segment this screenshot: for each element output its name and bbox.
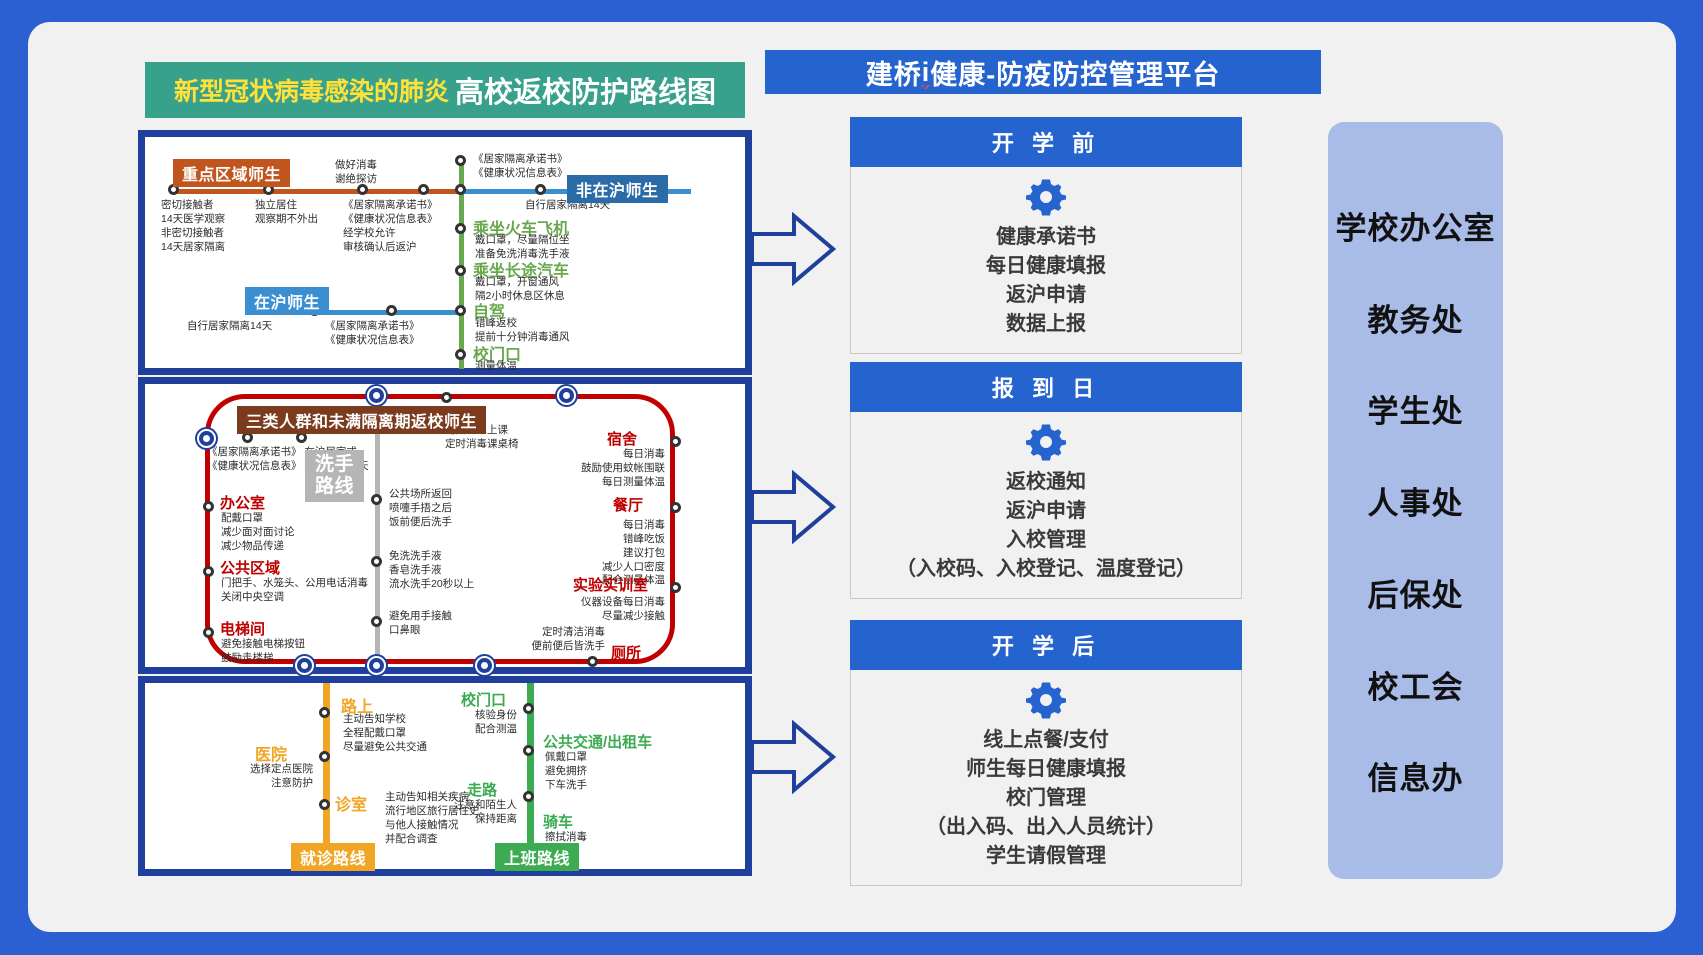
stop-marker	[386, 305, 397, 316]
dept-item-school-office[interactable]: 学校办公室	[1336, 203, 1496, 248]
heading-elevator: 电梯间	[220, 618, 265, 639]
department-sidebar: 学校办公室 教务处 学生处 人事处 后保处 校工会 信息办	[1328, 122, 1503, 879]
heading-toilet: 厕所	[611, 642, 641, 663]
stop-marker	[357, 184, 368, 195]
platform-title-bar: 建桥i健康-防疫防控管理平台	[765, 50, 1321, 94]
poster-banner-highlight: 新型冠状病毒感染的肺炎	[174, 72, 449, 108]
stop-marker	[203, 627, 214, 638]
slide-canvas: 新型冠状病毒感染的肺炎 高校返校防护路线图 重点区域师生 在沪师生 非在沪师生	[28, 22, 1676, 932]
note-public-area: 门把手、水笼头、公用电话消毒 关闭中央空调	[221, 577, 368, 605]
stop-marker	[523, 703, 534, 714]
stop-marker	[670, 502, 681, 513]
workflow-card-before-term[interactable]: 开 学 前 健康承诺书 每日健康填报 返沪申请 数据上报	[850, 117, 1242, 354]
poster-panel-pre-return: 重点区域师生 在沪师生 非在沪师生 密切接触者 14天医学观察 非密切接触者 1…	[138, 130, 752, 375]
heading-clinic: 诊室	[335, 791, 367, 815]
interchange-marker	[197, 429, 216, 448]
heading-hospital: 医院	[255, 741, 287, 765]
note-wash-products: 免洗洗手液 香皂洗手液 流水洗手20秒以上	[389, 550, 474, 592]
card-body-after-term: 线上点餐/支付 师生每日健康填报 校门管理 （出入码、出入人员统计） 学生请假管…	[850, 670, 1242, 886]
stop-marker	[523, 745, 534, 756]
stop-marker	[455, 349, 466, 360]
tag-work-route: 上班路线	[495, 843, 579, 871]
note-wash-after-public: 公共场所返回 喷嚏手捂之后 饭前便后洗手	[389, 488, 452, 530]
interchange-marker	[475, 656, 494, 675]
heading-walk: 走路	[467, 779, 497, 800]
dept-item-student-affairs[interactable]: 学生处	[1368, 386, 1464, 431]
heading-transit: 公共交通/出租车	[543, 731, 652, 752]
note-home-14-blue: 自行居家隔离14天	[187, 320, 272, 334]
note-disinfect-visits: 做好消毒 谢绝探访	[335, 159, 377, 187]
stop-marker	[319, 751, 330, 762]
note-gate: 核验身份 配合测温	[411, 709, 517, 737]
dept-item-info-office[interactable]: 信息办	[1368, 753, 1464, 798]
note-independent-living: 独立居住 观察期不外出	[255, 199, 318, 227]
card-line: 入校管理	[851, 526, 1241, 555]
card-body-report-day: 返校通知 返沪申请 入校管理 （入校码、入校登记、温度登记）	[850, 412, 1242, 599]
note-dorm: 每日消毒 鼓励使用蚊帐围联 每日测量体温	[545, 448, 665, 490]
stop-marker	[418, 184, 429, 195]
interchange-marker	[557, 386, 576, 405]
note-docs-top: 《居家隔离承诺书》 《健康状况信息表》	[473, 153, 568, 181]
dept-item-hr[interactable]: 人事处	[1368, 478, 1464, 523]
stop-marker	[455, 223, 466, 234]
card-line: 返沪申请	[851, 497, 1241, 526]
dept-item-union[interactable]: 校工会	[1368, 662, 1464, 707]
interchange-marker	[367, 386, 386, 405]
heading-canteen: 餐厅	[613, 494, 643, 515]
route-map-poster: 新型冠状病毒感染的肺炎 高校返校防护路线图 重点区域师生 在沪师生 非在沪师生	[138, 62, 758, 877]
stop-marker	[455, 155, 466, 166]
stop-marker	[670, 436, 681, 447]
tag-not-in-shanghai-staff: 非在沪师生	[567, 175, 668, 203]
poster-banner-title: 高校返校防护路线图	[455, 69, 716, 111]
stop-marker	[455, 184, 466, 195]
platform-title-prefix: 建桥	[866, 53, 922, 92]
card-body-before-term: 健康承诺书 每日健康填报 返沪申请 数据上报	[850, 167, 1242, 354]
tag-clinic-route: 就诊路线	[291, 843, 375, 871]
interchange-marker	[367, 656, 386, 675]
card-line: （出入码、出入人员统计）	[851, 813, 1241, 842]
note-avoid-face-touch: 避免用手接触 口鼻眼	[389, 610, 452, 638]
card-line: 校门管理	[851, 784, 1241, 813]
stop-marker	[535, 184, 546, 195]
stop-marker	[371, 556, 382, 567]
note-docs-approval: 《居家隔离承诺书》 《健康状况信息表》 经学校允许 审核确认后返沪	[343, 199, 438, 254]
note-walk: 注意和陌生人 保持距离	[401, 799, 517, 827]
dept-item-logistics[interactable]: 后保处	[1368, 570, 1464, 615]
note-docs-blue: 《居家隔离承诺书》 《健康状况信息表》	[325, 320, 420, 348]
stop-marker	[587, 656, 598, 667]
tag-handwash-route: 洗手 路线	[305, 450, 364, 502]
orange-route-line	[170, 189, 460, 194]
stop-marker	[455, 305, 466, 316]
poster-panel-on-campus: 三类人群和未满隔离期返校师生 《居家隔离承诺书》 在沪居家或 《健康状况信息表》…	[138, 377, 752, 674]
heading-gate: 校门口	[461, 689, 506, 710]
stop-marker	[203, 566, 214, 577]
dept-item-academic-affairs[interactable]: 教务处	[1368, 295, 1464, 340]
tag-key-area-staff: 重点区域师生	[173, 159, 290, 187]
platform-title-i: i	[922, 57, 931, 88]
card-line: 线上点餐/支付	[851, 726, 1241, 755]
note-elevator: 避免接触电梯按钮 鼓励走楼梯	[221, 638, 305, 666]
poster-panel-commute: 路上 主动告知学校 全程配戴口罩 尽量避免公共交通 医院 选择定点医院 注意防护…	[138, 676, 752, 876]
card-header-after-term: 开 学 后	[850, 620, 1242, 670]
card-line: 每日健康填报	[851, 252, 1241, 281]
arrow-to-card-3	[750, 720, 836, 794]
gear-icon	[1026, 177, 1066, 217]
note-close-contacts: 密切接触者 14天医学观察 非密切接触者 14天居家隔离	[161, 199, 225, 254]
workflow-card-report-day[interactable]: 报 到 日 返校通知 返沪申请 入校管理 （入校码、入校登记、温度登记）	[850, 362, 1242, 599]
platform-title-suffix: 健康-防疫防控管理平台	[930, 53, 1220, 92]
note-school-gate-temp: 测量体温	[475, 360, 517, 374]
heading-lab: 实验实训室	[573, 574, 648, 595]
card-line: 学生请假管理	[851, 842, 1241, 871]
note-toilet: 定时清洁消毒 便前便后皆洗手	[475, 626, 605, 654]
interchange-marker	[295, 656, 314, 675]
heading-bike: 骑车	[543, 811, 573, 832]
stop-marker	[441, 392, 452, 403]
stop-marker	[319, 707, 330, 718]
stop-marker	[371, 616, 382, 627]
stop-marker	[371, 494, 382, 505]
stop-marker	[203, 501, 214, 512]
arrow-to-card-2	[750, 470, 836, 544]
card-line: 健康承诺书	[851, 223, 1241, 252]
arrow-to-card-1	[750, 212, 836, 286]
poster-banner: 新型冠状病毒感染的肺炎 高校返校防护路线图	[145, 62, 745, 118]
tag-in-shanghai-staff: 在沪师生	[245, 287, 329, 315]
card-line: 返沪申请	[851, 281, 1241, 310]
stop-marker	[670, 582, 681, 593]
note-office: 配戴口罩 减少面对面讨论 减少物品传递	[221, 512, 295, 554]
heading-dorm: 宿舍	[607, 428, 637, 449]
stop-marker	[523, 791, 534, 802]
note-transit: 佩戴口罩 避免拥挤 下车洗手	[545, 751, 587, 793]
workflow-card-after-term[interactable]: 开 学 后 线上点餐/支付 师生每日健康填报 校门管理 （出入码、出入人员统计）…	[850, 620, 1242, 886]
card-header-before-term: 开 学 前	[850, 117, 1242, 167]
stop-marker	[319, 799, 330, 810]
card-line: 数据上报	[851, 310, 1241, 339]
note-hospital: 选择定点医院 注意防护	[185, 763, 313, 791]
stop-marker	[455, 265, 466, 276]
card-line: 师生每日健康填报	[851, 755, 1241, 784]
gear-icon	[1026, 422, 1066, 462]
note-lab: 仪器设备每日消毒 尽量减少接触	[535, 596, 665, 624]
heading-office: 办公室	[220, 492, 265, 513]
gear-icon	[1026, 680, 1066, 720]
tag-three-groups: 三类人群和未满隔离期返校师生	[237, 406, 486, 434]
card-line: （入校码、入校登记、温度登记）	[851, 555, 1241, 584]
card-header-report-day: 报 到 日	[850, 362, 1242, 412]
heading-public-area: 公共区域	[220, 557, 280, 578]
card-line: 返校通知	[851, 468, 1241, 497]
